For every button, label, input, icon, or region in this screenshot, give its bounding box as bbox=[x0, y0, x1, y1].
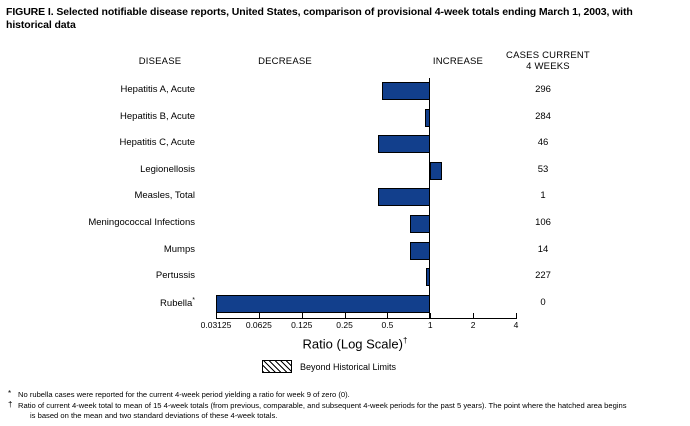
chart-row: Hepatitis A, Acute296 bbox=[0, 78, 690, 104]
chart-row: Mumps14 bbox=[0, 238, 690, 264]
cases-value: 227 bbox=[498, 270, 588, 281]
cases-value: 46 bbox=[498, 137, 588, 148]
disease-label: Hepatitis A, Acute bbox=[20, 84, 195, 95]
column-header-cases-current-4-weeks: CASES CURRENT 4 WEEKS bbox=[498, 50, 598, 72]
axis-baseline-ratio-1 bbox=[429, 78, 430, 318]
bar bbox=[378, 135, 430, 153]
disease-label-footnote-mark: * bbox=[192, 297, 195, 304]
x-axis-title-footnote-mark: † bbox=[403, 336, 407, 345]
x-axis-tick bbox=[473, 313, 474, 319]
disease-label: Rubella* bbox=[20, 297, 195, 309]
cases-value: 0 bbox=[498, 297, 588, 308]
column-header-decrease: DECREASE bbox=[230, 56, 340, 67]
chart-row: Hepatitis C, Acute46 bbox=[0, 131, 690, 157]
chart-row: Meningococcal Infections106 bbox=[0, 211, 690, 237]
legend: Beyond Historical Limits bbox=[262, 360, 396, 373]
x-axis-tick bbox=[302, 313, 303, 319]
disease-label: Hepatitis B, Acute bbox=[20, 111, 195, 122]
cases-value: 14 bbox=[498, 244, 588, 255]
footnote-mark: † bbox=[8, 400, 12, 410]
x-axis-tick-label: 4 bbox=[486, 320, 546, 330]
disease-label: Mumps bbox=[20, 244, 195, 255]
chart-plot-area: Hepatitis A, Acute296Hepatitis B, Acute2… bbox=[0, 78, 690, 318]
page-title: FIGURE I. Selected notifiable disease re… bbox=[6, 6, 678, 32]
column-header-cases-line1: CASES CURRENT bbox=[498, 50, 598, 61]
footnote: †Ratio of current 4-week total to mean o… bbox=[6, 401, 684, 421]
footnote-mark: * bbox=[8, 389, 11, 399]
chart-row: Measles, Total1 bbox=[0, 184, 690, 210]
footnotes: *No rubella cases were reported for the … bbox=[6, 390, 684, 422]
cases-value: 284 bbox=[498, 111, 588, 122]
column-header-increase: INCREASE bbox=[418, 56, 498, 67]
x-axis-tick bbox=[516, 313, 517, 319]
bar bbox=[430, 162, 441, 180]
cases-value: 106 bbox=[498, 217, 588, 228]
footnote-text-continued: is based on the mean and two standard de… bbox=[18, 411, 684, 421]
x-axis-tick bbox=[259, 313, 260, 319]
chart-row: Pertussis227 bbox=[0, 264, 690, 290]
cases-value: 53 bbox=[498, 164, 588, 175]
x-axis-tick bbox=[216, 313, 217, 319]
footnote-text: No rubella cases were reported for the c… bbox=[18, 390, 350, 399]
chart-row: Hepatitis B, Acute284 bbox=[0, 105, 690, 131]
column-header-cases-line2: 4 WEEKS bbox=[498, 61, 598, 72]
disease-label: Hepatitis C, Acute bbox=[20, 137, 195, 148]
chart-row: Legionellosis53 bbox=[0, 158, 690, 184]
disease-label: Measles, Total bbox=[20, 190, 195, 201]
footnote: *No rubella cases were reported for the … bbox=[6, 390, 684, 400]
legend-label: Beyond Historical Limits bbox=[300, 362, 396, 372]
x-axis-line bbox=[216, 318, 516, 319]
disease-label: Pertussis bbox=[20, 270, 195, 281]
column-header-disease: DISEASE bbox=[120, 56, 200, 67]
footnote-text: Ratio of current 4-week total to mean of… bbox=[18, 401, 627, 410]
bar bbox=[378, 188, 430, 206]
x-axis-title-text: Ratio (Log Scale) bbox=[303, 336, 403, 351]
hatched-swatch-icon bbox=[262, 360, 292, 373]
cases-value: 296 bbox=[498, 84, 588, 95]
bar bbox=[382, 82, 430, 100]
x-axis-title: Ratio (Log Scale)† bbox=[230, 336, 480, 351]
bar bbox=[410, 215, 430, 233]
x-axis-tick bbox=[430, 313, 431, 319]
x-axis-tick bbox=[345, 313, 346, 319]
x-axis-tick bbox=[387, 313, 388, 319]
cases-value: 1 bbox=[498, 190, 588, 201]
bar bbox=[410, 242, 430, 260]
bar bbox=[216, 295, 430, 313]
disease-label: Legionellosis bbox=[20, 164, 195, 175]
disease-label: Meningococcal Infections bbox=[20, 217, 195, 228]
